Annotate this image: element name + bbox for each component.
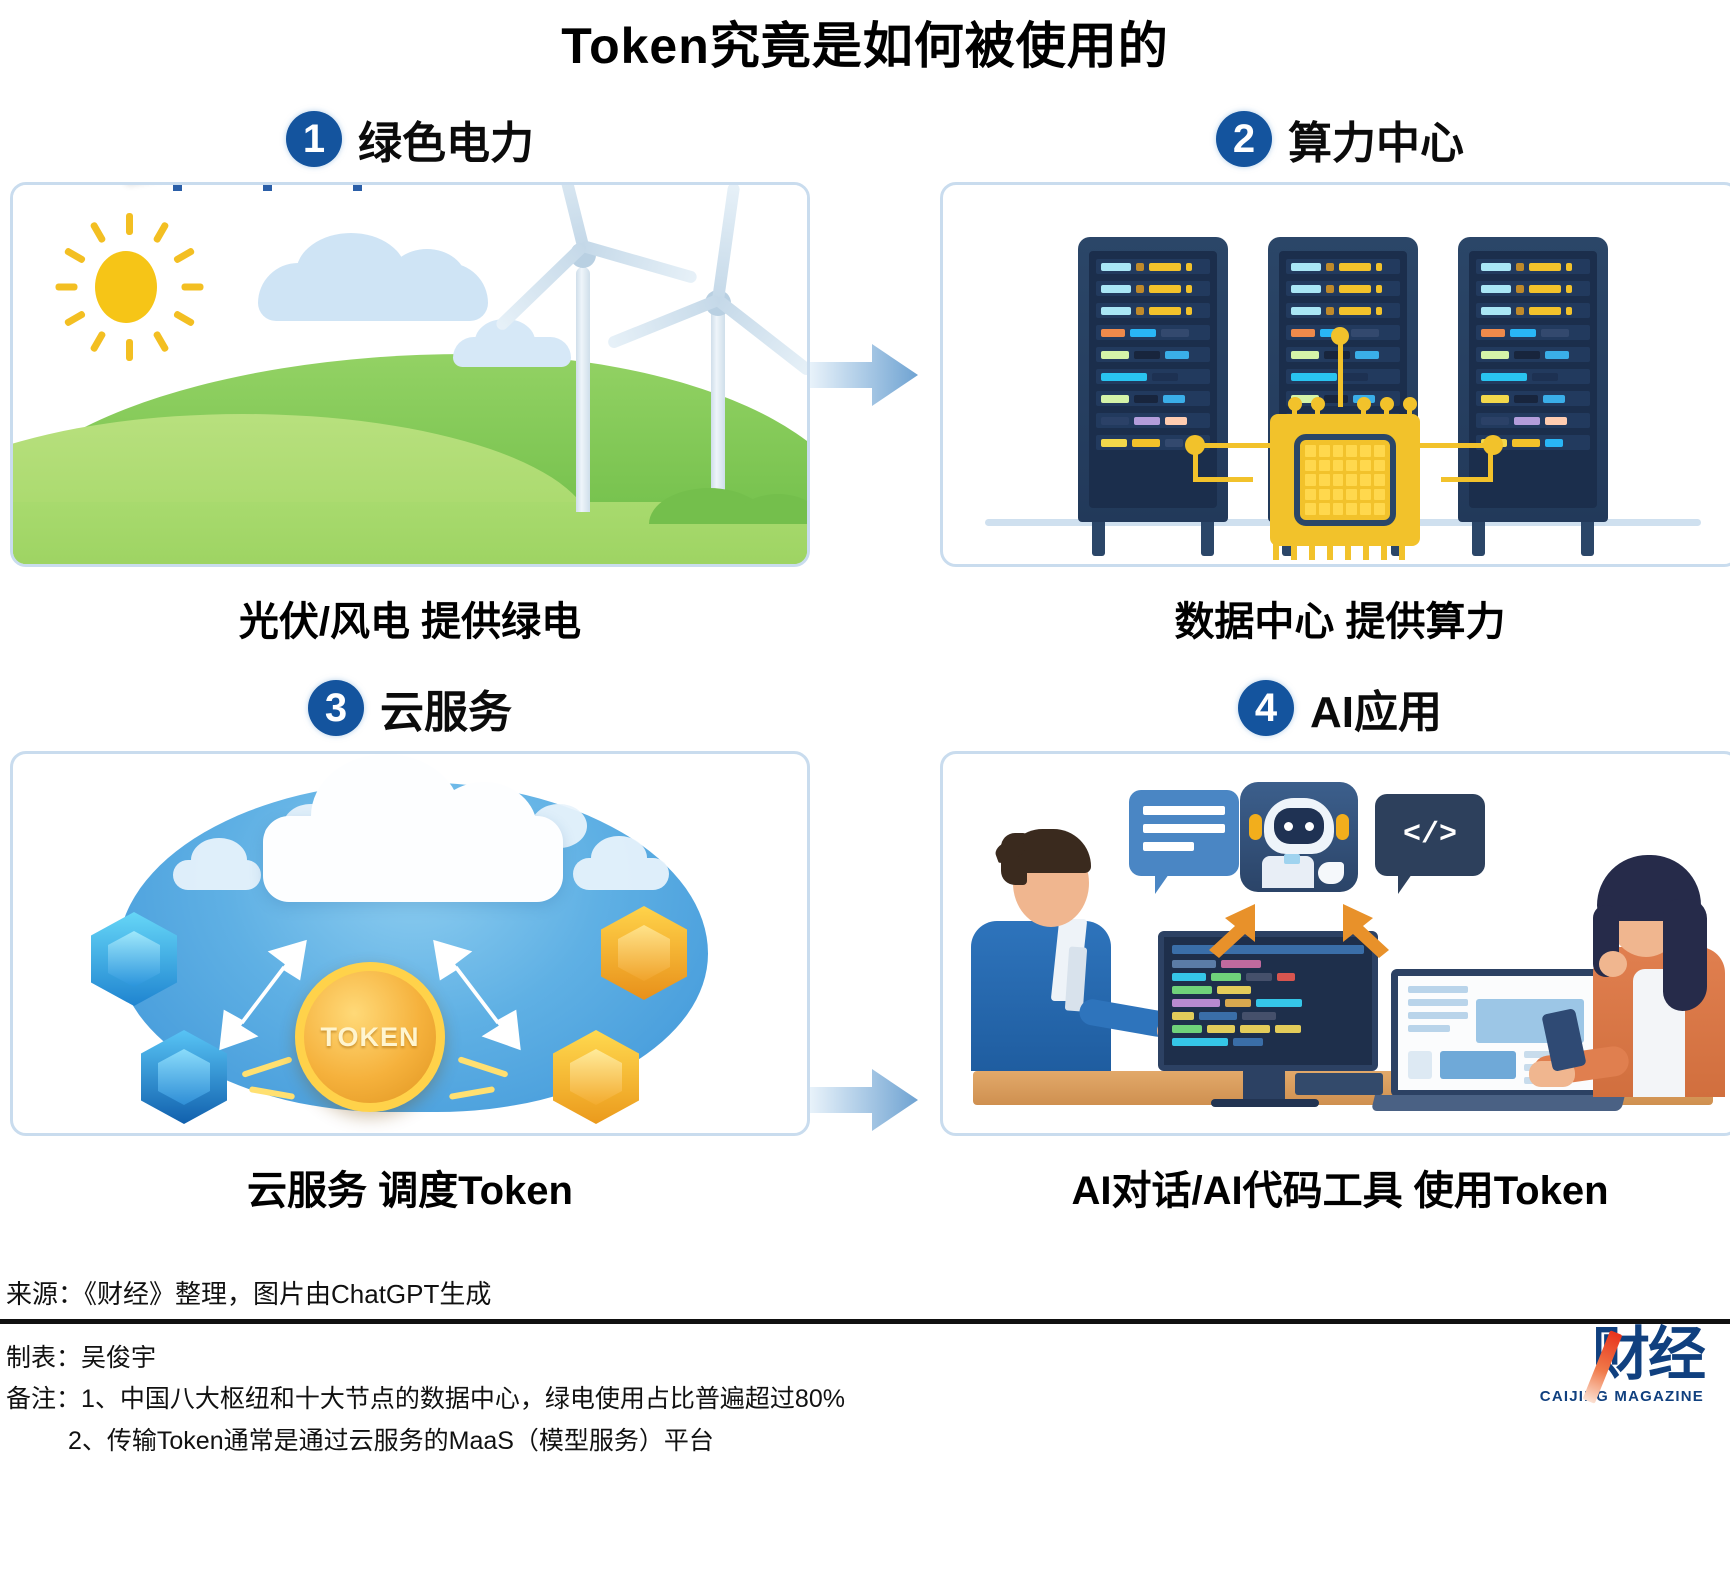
steps-grid: 1 绿色电力 (0, 96, 1730, 1216)
chip-pin (1309, 542, 1315, 560)
step-3-caption: 云服务 调度Token (10, 1136, 810, 1216)
chip-pin (1345, 542, 1351, 560)
step-1-title: 绿色电力 (358, 107, 534, 171)
notes-label: 备注： (6, 1385, 81, 1413)
chip-pin (1363, 542, 1369, 560)
monitor-base (1211, 1099, 1319, 1107)
caijing-logo: 财经 CAIJING MAGAZINE (1504, 1326, 1704, 1422)
step-2-header: 2 算力中心 (940, 96, 1730, 182)
step-1-illustration-panel (10, 182, 810, 567)
laptop-keyboard-base (1371, 1095, 1625, 1111)
token-coin-icon: TOKEN (295, 962, 445, 1112)
step-3-illustration-panel: TOKEN (10, 751, 810, 1136)
cloud-icon (173, 860, 261, 890)
code-bubble-tail (1398, 874, 1412, 894)
step-4-number-badge: 4 (1238, 680, 1294, 736)
step-card-3: 3 云服务 (10, 665, 810, 1216)
circuit-node (1331, 327, 1349, 345)
sun-ray-icon (56, 284, 78, 291)
logo-english-text: CAIJING MAGAZINE (1504, 1388, 1704, 1405)
step-3-title: 云服务 (380, 676, 512, 740)
circuit-trace (1193, 443, 1277, 448)
sun-ray-icon (126, 213, 133, 235)
person-man (971, 801, 1161, 1071)
step-2-caption: 数据中心 提供算力 (940, 567, 1730, 647)
step-2-illustration-panel (940, 182, 1730, 567)
upward-arrow-icon (1339, 902, 1391, 958)
chip-pin (1327, 542, 1333, 560)
monitor-stand (1243, 1069, 1285, 1103)
sun-ray-icon (182, 284, 204, 291)
source-line: 来源：《财经》整理，图片由ChatGPT生成 (0, 1272, 1730, 1319)
step-1-header: 1 绿色电力 (10, 96, 810, 182)
ai-robot-icon (1240, 782, 1358, 892)
main-cloud-icon (263, 816, 563, 902)
circuit-node (1185, 435, 1205, 455)
circuit-trace (1338, 335, 1343, 407)
circuit-trace (1193, 477, 1253, 482)
step-card-1: 1 绿色电力 (10, 96, 810, 647)
sun-icon (95, 251, 157, 323)
code-bubble-icon: </> (1375, 794, 1485, 876)
chip-pin (1381, 542, 1387, 560)
footer: 来源：《财经》整理，图片由ChatGPT生成 制表：吴俊宇 备注：1、中国八大枢… (0, 1272, 1730, 1462)
author-line: 制表：吴俊宇 (6, 1338, 1724, 1379)
step-1-caption: 光伏/风电 提供绿电 (10, 567, 810, 647)
tablet-device (1295, 1073, 1383, 1095)
step-card-2: 2 算力中心 (940, 96, 1730, 647)
cpu-chip-icon (1270, 414, 1420, 546)
page-title: Token究竟是如何被使用的 (0, 0, 1730, 76)
step-3-header: 3 云服务 (10, 665, 810, 751)
step-4-title: AI应用 (1310, 676, 1442, 740)
infographic-page: Token究竟是如何被使用的 1 绿色电力 (0, 0, 1730, 1592)
cloud-icon (573, 858, 669, 890)
circuit-trace (1413, 443, 1493, 448)
step-4-header: 4 AI应用 (940, 665, 1730, 751)
step-2-number-badge: 2 (1216, 111, 1272, 167)
notes-block: 制表：吴俊宇 备注：1、中国八大枢纽和十大节点的数据中心，绿电使用占比普遍超过8… (0, 1324, 1730, 1462)
arrow-step1-to-step2-icon (810, 340, 920, 410)
sun-ray-icon (126, 339, 133, 361)
note-line-1: 备注：1、中国八大枢纽和十大节点的数据中心，绿电使用占比普遍超过80% (6, 1379, 1724, 1420)
step-2-title: 算力中心 (1288, 107, 1464, 171)
chip-pin (1273, 542, 1279, 560)
note-1-text: 1、中国八大枢纽和十大节点的数据中心，绿电使用占比普遍超过80% (81, 1385, 845, 1413)
note-line-2: 2、传输Token通常是通过云服务的MaaS（模型服务）平台 (6, 1421, 1724, 1462)
wind-turbine-icon (673, 256, 763, 506)
step-card-4: 4 AI应用 (940, 665, 1730, 1216)
step-4-illustration-panel: </> (940, 751, 1730, 1136)
upward-arrow-icon (1207, 902, 1259, 958)
step-1-number-badge: 1 (286, 111, 342, 167)
circuit-node (1483, 435, 1503, 455)
chip-pin (1291, 542, 1297, 560)
step-4-caption: AI对话/AI代码工具 使用Token (940, 1136, 1730, 1216)
step-3-number-badge: 3 (308, 680, 364, 736)
arrow-step3-to-step4-icon (810, 1065, 920, 1135)
code-glyph: </> (1403, 818, 1457, 852)
token-coin-label: TOKEN (320, 1022, 419, 1053)
wind-turbine-icon (528, 220, 638, 512)
circuit-trace (1441, 477, 1493, 482)
person-woman (1541, 811, 1730, 1097)
chip-pin (1399, 542, 1405, 560)
cloud-icon (258, 263, 488, 321)
